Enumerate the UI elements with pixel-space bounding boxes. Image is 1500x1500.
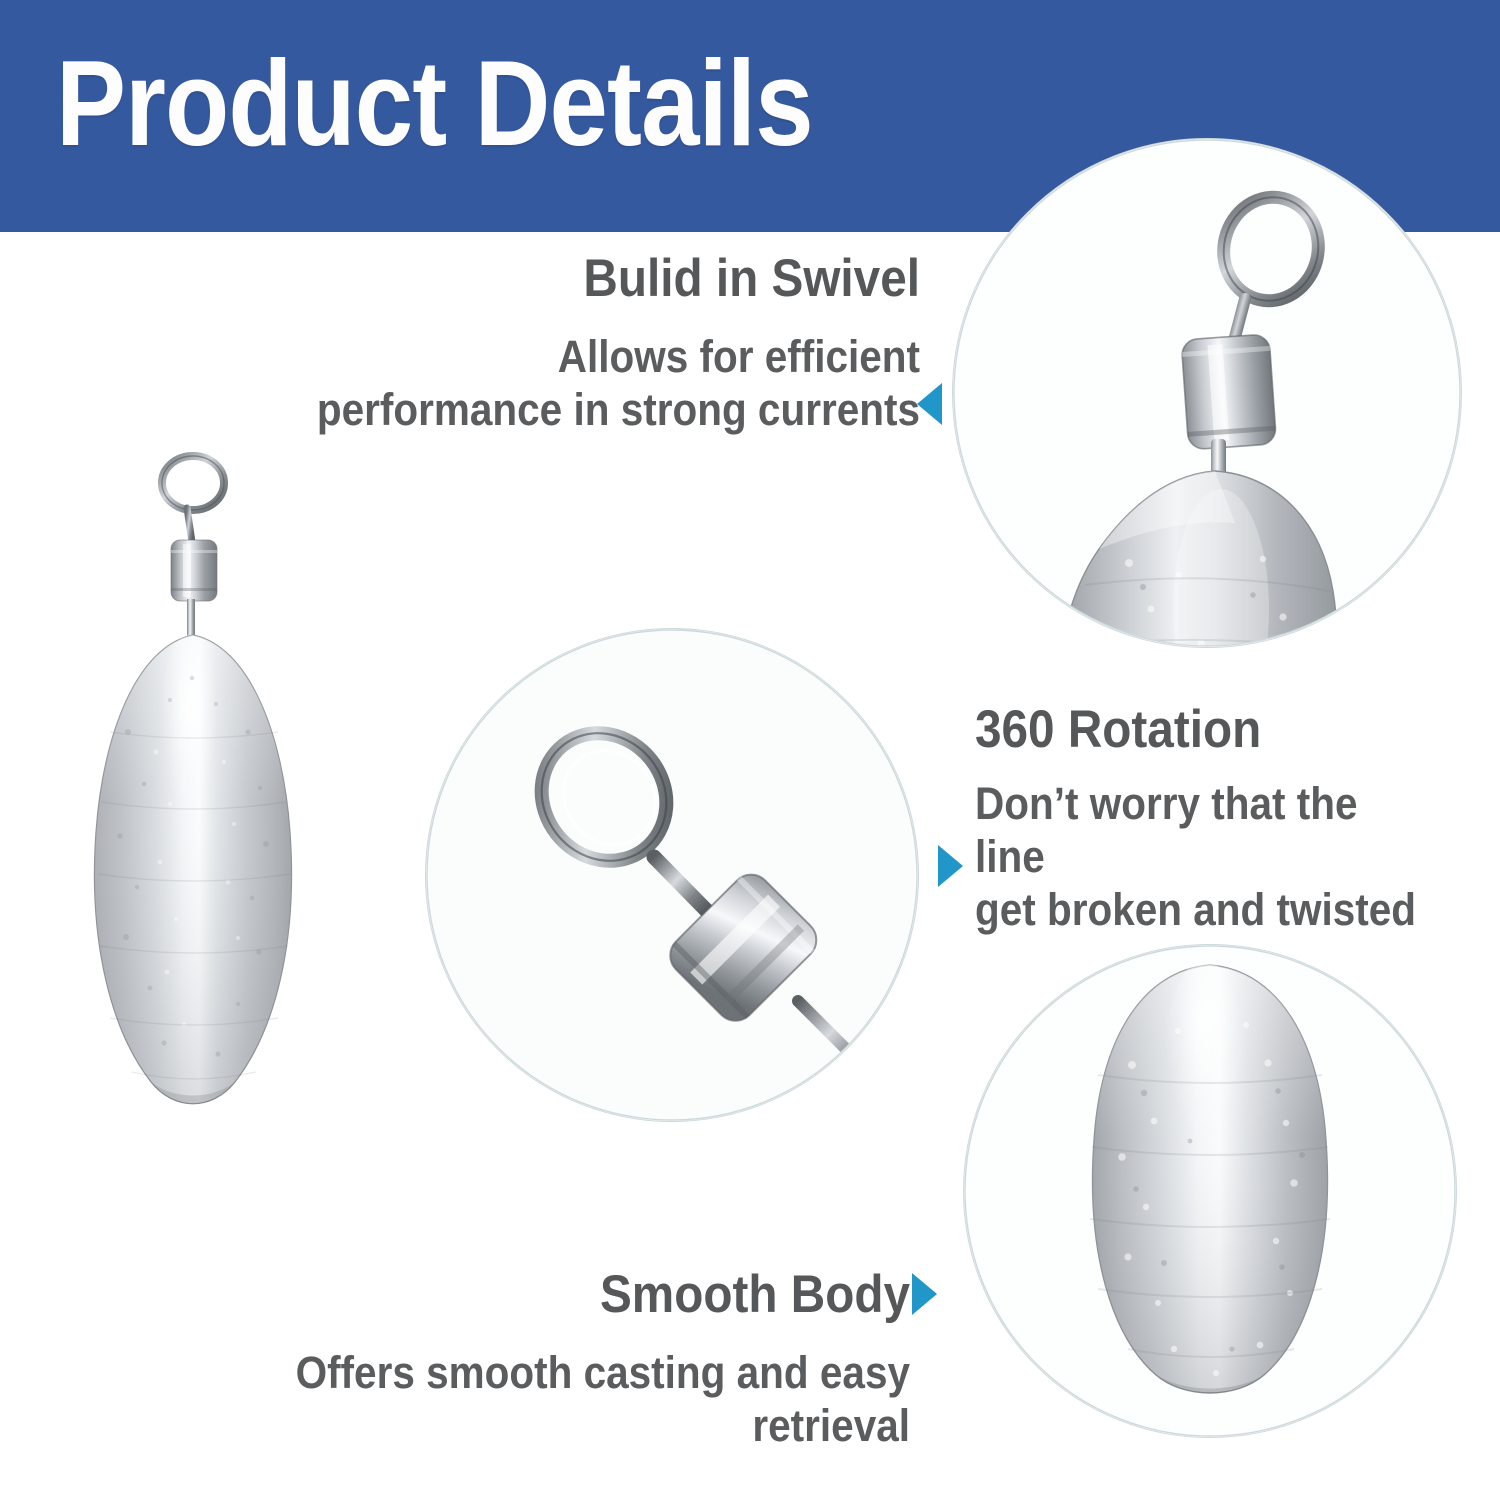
triangle-right-icon [912, 1273, 937, 1315]
swivel-closeup-image [952, 138, 1462, 648]
feature-swivel-body-line1: Allows for efficient [128, 330, 920, 383]
smooth-body-closeup-image [963, 944, 1457, 1438]
page-title: Product Details [56, 42, 813, 164]
triangle-right-icon [938, 845, 963, 887]
feature-body-heading: Smooth Body [145, 1268, 910, 1322]
feature-body-body-line1: Offers smooth casting and easy retrieval [145, 1346, 910, 1452]
feature-body-body: Offers smooth casting and easy retrieval [145, 1346, 910, 1452]
feature-rotation-text: 360 Rotation Don’t worry that the line g… [975, 703, 1475, 936]
feature-swivel-heading: Bulid in Swivel [128, 252, 920, 306]
feature-swivel-text: Bulid in Swivel Allows for efficient per… [40, 252, 920, 436]
feature-rotation-heading: 360 Rotation [975, 703, 1425, 757]
triangle-left-icon [917, 383, 942, 425]
rotation-closeup-image [425, 628, 919, 1122]
feature-rotation-body-line1: Don’t worry that the line [975, 777, 1425, 883]
feature-rotation-body: Don’t worry that the line get broken and… [975, 777, 1425, 936]
feature-body-text: Smooth Body Offers smooth casting and ea… [60, 1268, 910, 1452]
feature-rotation-body-line2: get broken and twisted [975, 883, 1425, 936]
feature-swivel-body: Allows for efficient performance in stro… [128, 330, 920, 436]
feature-swivel-body-line2: performance in strong currents [128, 383, 920, 436]
hero-product-image [52, 432, 335, 1159]
